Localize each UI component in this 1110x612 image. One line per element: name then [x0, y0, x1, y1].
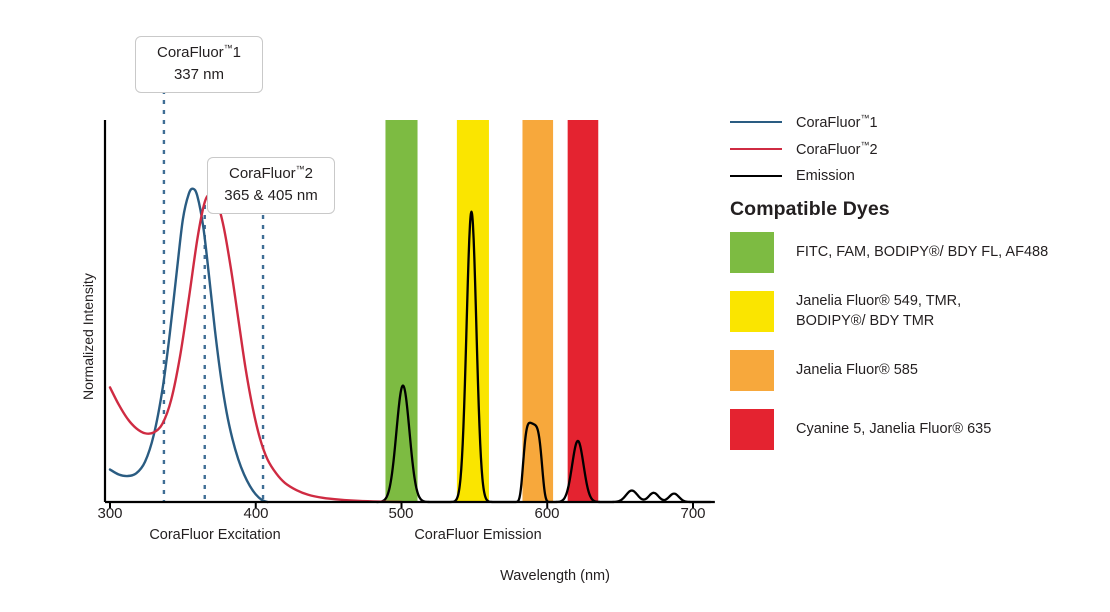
annotation-box-1-line2: 337 nm [146, 64, 252, 86]
x-tick-700: 700 [668, 505, 718, 522]
dye-label: Janelia Fluor® 549, TMR,BODIPY®/ BDY TMR [796, 292, 961, 331]
dye-row-3: Cyanine 5, Janelia Fluor® 635 [730, 409, 1105, 450]
dye-label: Janelia Fluor® 585 [796, 361, 918, 381]
legend-line-swatch [730, 175, 782, 177]
trademark-icon: ™ [224, 43, 233, 53]
x-tick-600: 600 [522, 505, 572, 522]
compatible-dyes-list: FITC, FAM, BODIPY®/ BDY FL, AF488Janelia… [730, 232, 1105, 468]
legend-line-swatch [730, 121, 782, 123]
dye-color-swatch [730, 409, 774, 450]
dye-label: FITC, FAM, BODIPY®/ BDY FL, AF488 [796, 243, 1048, 263]
x-tick-400: 400 [231, 505, 281, 522]
dye-color-swatch [730, 291, 774, 332]
annotation-box-corafluor2: CoraFluor™2 365 & 405 nm [207, 157, 335, 214]
compatible-dyes-title: Compatible Dyes [730, 198, 890, 221]
y-axis-title: Normalized Intensity [80, 273, 96, 400]
dye-color-swatch [730, 350, 774, 391]
legend-label: CoraFluor™2 [796, 140, 878, 158]
curve-corafluor1 [110, 189, 267, 502]
legend-row-1: CoraFluor™2 [730, 135, 1100, 162]
dye-row-2: Janelia Fluor® 585 [730, 350, 1105, 391]
x-axis-title: Wavelength (nm) [0, 568, 1110, 584]
annotation-box-2-line2: 365 & 405 nm [218, 185, 324, 207]
legend-row-2: Emission [730, 162, 1100, 189]
dye-label-line2: BODIPY®/ BDY TMR [796, 313, 934, 329]
marker-dashed-lines [164, 90, 263, 502]
color-bands [385, 120, 598, 502]
chart-figure: CoraFluor™1 337 nm CoraFluor™2 365 & 405… [0, 0, 1110, 612]
dye-label: Cyanine 5, Janelia Fluor® 635 [796, 420, 991, 440]
excitation-curves [110, 189, 402, 502]
orange-band [522, 120, 553, 502]
x-group-label-excitation: CoraFluor Excitation [120, 527, 310, 543]
dye-color-swatch [730, 232, 774, 273]
annotation-box-1-line1: CoraFluor™1 [146, 42, 252, 64]
x-group-label-emission: CoraFluor Emission [383, 527, 573, 543]
dye-row-1: Janelia Fluor® 549, TMR,BODIPY®/ BDY TMR [730, 291, 1105, 332]
annotation-box-corafluor1: CoraFluor™1 337 nm [135, 36, 263, 93]
legend-label: CoraFluor™1 [796, 113, 878, 131]
curve-corafluor2 [110, 194, 402, 502]
legend-line-swatch [730, 148, 782, 150]
dye-row-0: FITC, FAM, BODIPY®/ BDY FL, AF488 [730, 232, 1105, 273]
red-band [568, 120, 599, 502]
legend-label: Emission [796, 168, 855, 184]
series-legend: CoraFluor™1CoraFluor™2Emission [730, 108, 1100, 189]
legend-row-0: CoraFluor™1 [730, 108, 1100, 135]
x-tick-300: 300 [85, 505, 135, 522]
trademark-icon: ™ [296, 164, 305, 174]
annotation-box-2-line1: CoraFluor™2 [218, 163, 324, 185]
green-band [385, 120, 417, 502]
x-tick-500: 500 [376, 505, 426, 522]
